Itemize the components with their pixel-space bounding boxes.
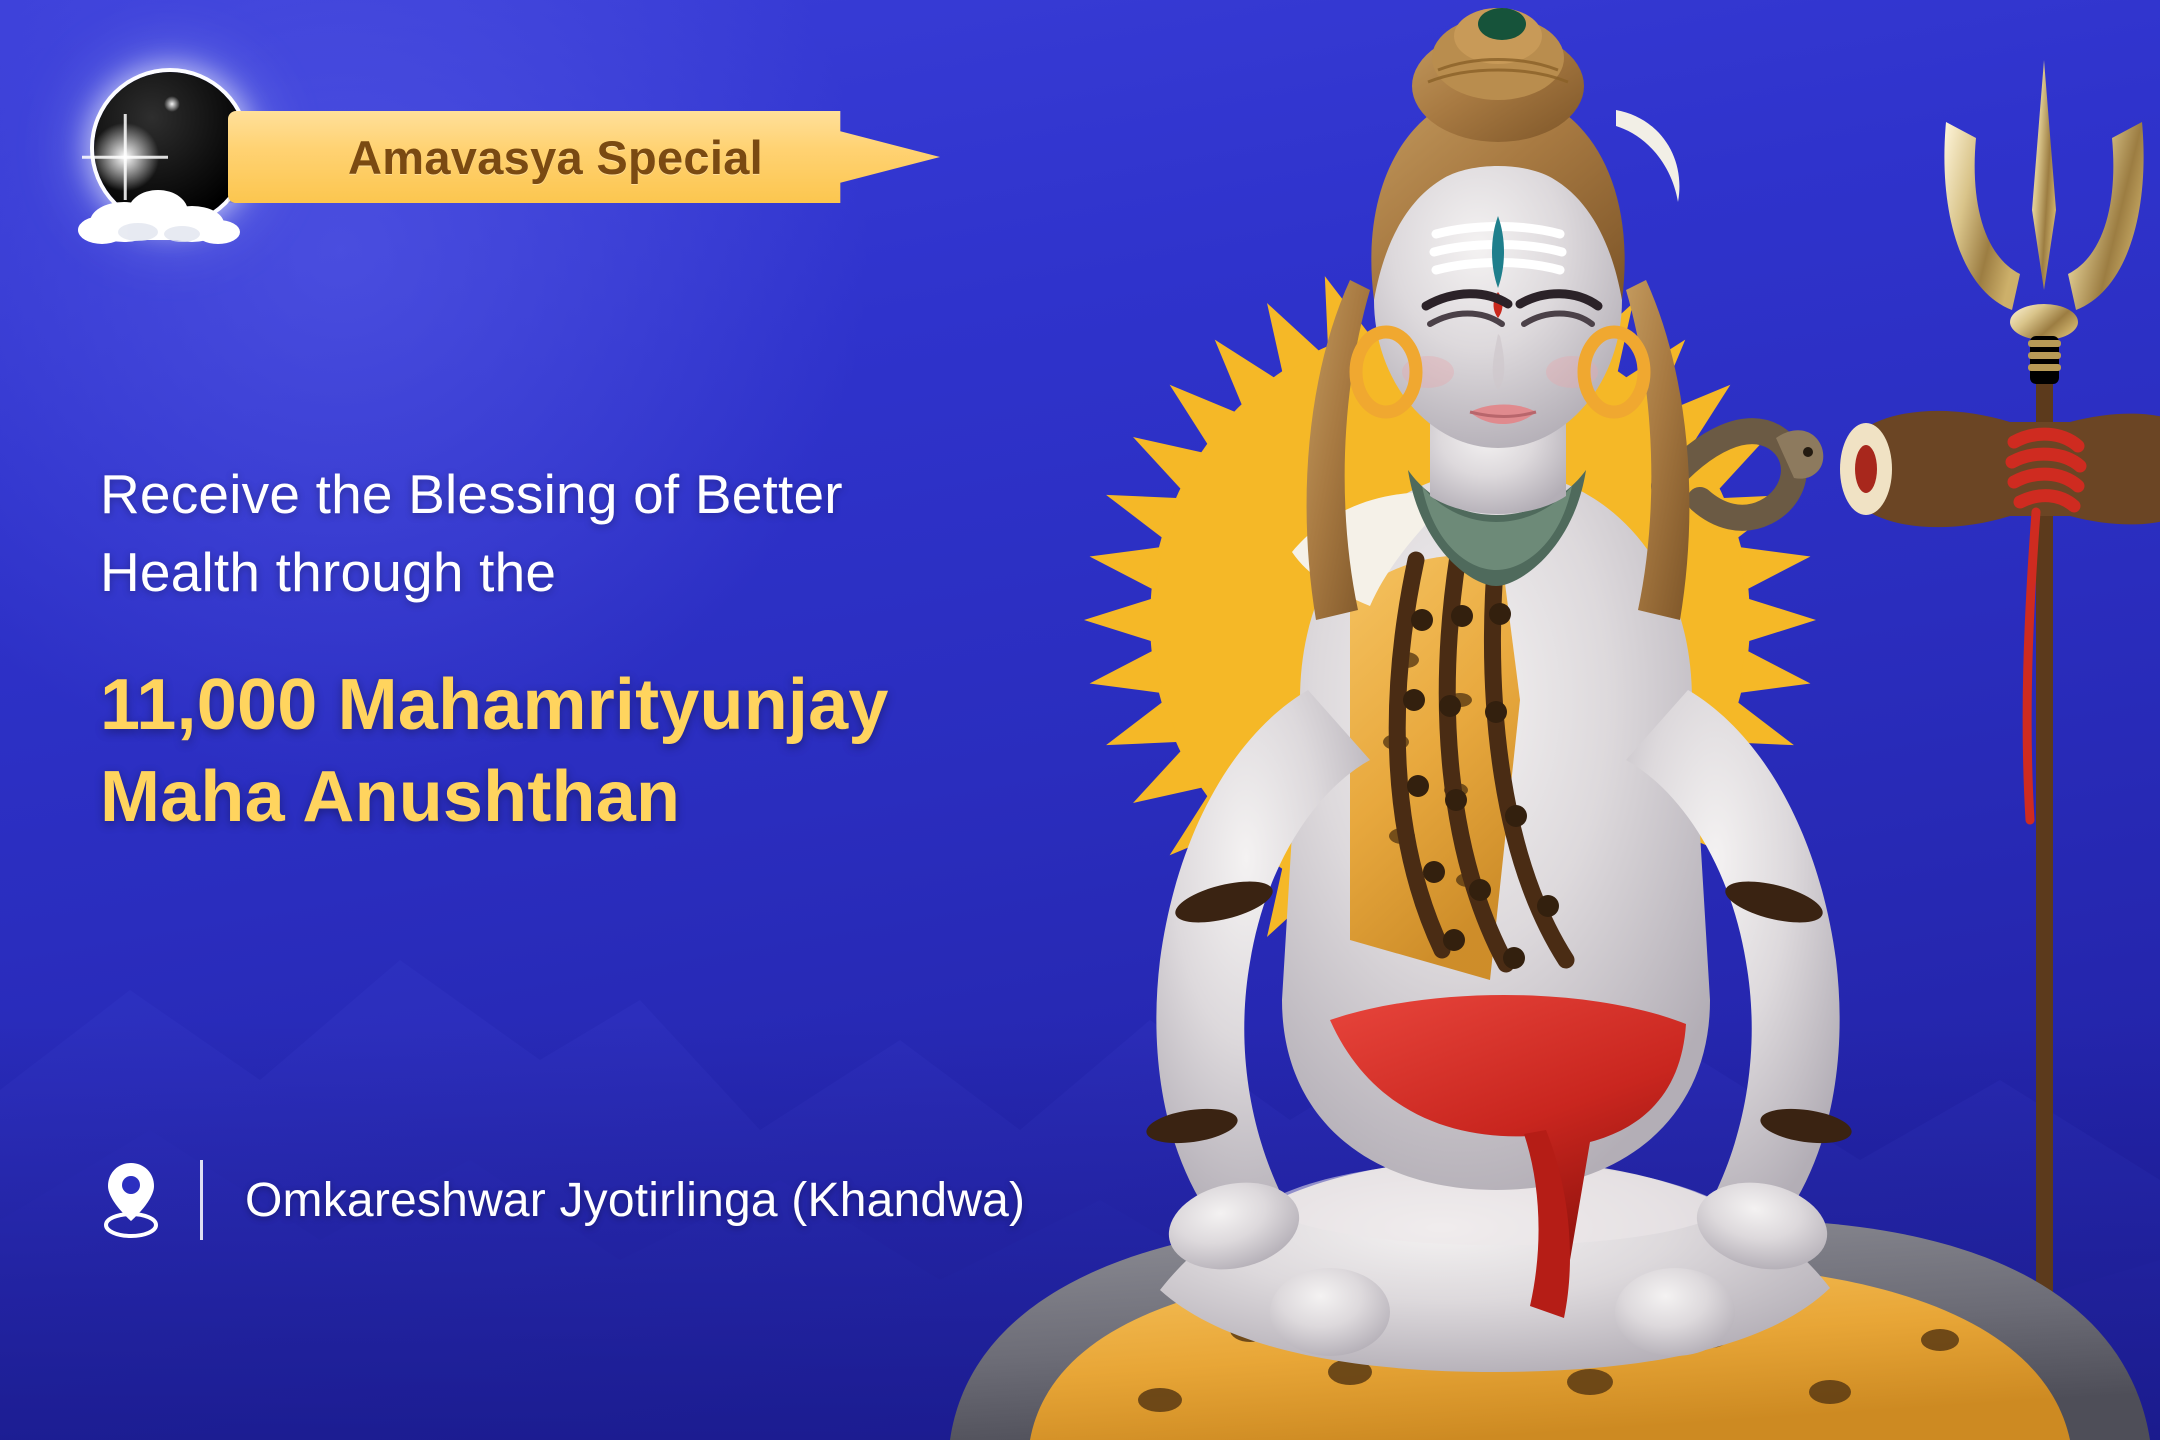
subheading-line-1: Receive the Blessing of Better (100, 455, 1160, 533)
eclipse-spark (164, 96, 180, 112)
location-name: Omkareshwar Jyotirlinga (Khandwa) (245, 1173, 1025, 1228)
subheading-line-2: Health through the (100, 533, 1160, 611)
map-pin-icon (100, 1161, 162, 1239)
copy-block: Receive the Blessing of Better Health th… (100, 455, 1160, 844)
headline-block: 11,000 Mahamrityunjay Maha Anushthan (100, 659, 1160, 843)
headline-line-1: 11,000 Mahamrityunjay (100, 659, 1160, 751)
amavasya-special-badge[interactable]: Amavasya Special (228, 111, 940, 203)
location-footer: Omkareshwar Jyotirlinga (Khandwa) (100, 1160, 1025, 1240)
headline-line-2: Maha Anushthan (100, 751, 1160, 843)
badge-label: Amavasya Special (348, 130, 763, 185)
promotional-banner: Amavasya Special Receive the Blessing of… (0, 0, 2160, 1440)
location-divider (200, 1160, 203, 1240)
